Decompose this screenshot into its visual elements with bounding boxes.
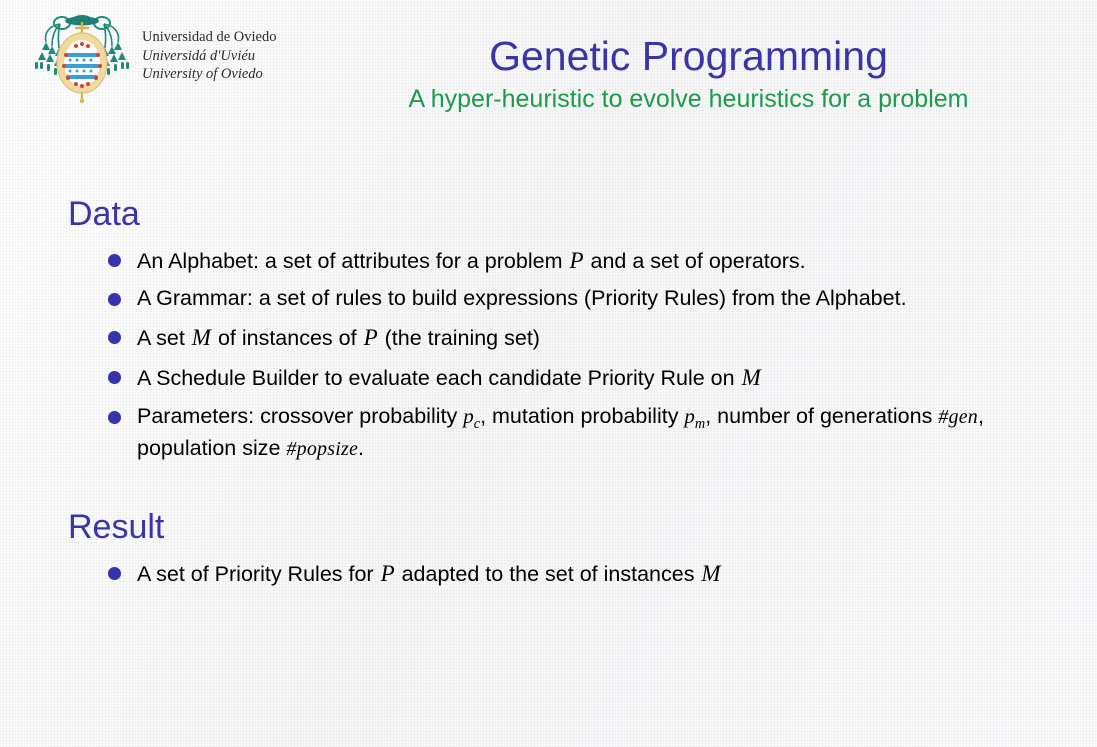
bullet-marker-icon <box>108 567 121 580</box>
bullet-text: A set of Priority Rules for <box>137 562 380 586</box>
slide-header: Universidad de Oviedo Universidá d'Uviéu… <box>0 0 1097 145</box>
bullet-marker-icon <box>108 293 121 306</box>
bullet-marker-icon <box>108 371 121 384</box>
slide-subtitle: A hyper-heuristic to evolve heuristics f… <box>300 86 1077 114</box>
section-heading-result: Result <box>68 510 1097 546</box>
bullet-text: of instances of <box>212 326 363 350</box>
math-script-symbol: M <box>741 365 762 390</box>
bullet-text: , number of generations <box>705 404 938 428</box>
math-variable: pc <box>463 404 480 428</box>
bullet-item: A Grammar: a set of rules to build expre… <box>0 284 1097 314</box>
math-script-symbol: M <box>191 325 212 350</box>
bullet-text: adapted to the set of instances <box>396 562 701 586</box>
bullet-item: A set M of instances of P (the training … <box>0 322 1097 354</box>
bullet-text: . <box>358 436 364 460</box>
bullet-text: , mutation probability <box>480 404 684 428</box>
math-script-symbol: P <box>380 561 396 586</box>
bullet-text: Parameters: crossover probability <box>137 404 463 428</box>
bullet-marker-icon <box>108 254 121 267</box>
university-of-oviedo-crest-icon <box>30 8 134 104</box>
title-block: Genetic Programming A hyper-heuristic to… <box>300 34 1077 114</box>
bullet-text: A Grammar: a set of rules to build expre… <box>137 286 907 310</box>
university-name-block: Universidad de Oviedo Universidá d'Uviéu… <box>142 28 277 84</box>
bullet-item: An Alphabet: a set of attributes for a p… <box>0 245 1097 277</box>
section-heading-data: Data <box>68 197 1097 233</box>
university-name-en: University of Oviedo <box>142 65 277 84</box>
slide-body: Data An Alphabet: a set of attributes fo… <box>0 150 1097 747</box>
bullet-list-result: A set of Priority Rules for P adapted to… <box>0 558 1097 590</box>
math-script-symbol: M <box>700 561 721 586</box>
bullet-item: Parameters: crossover probability pc, mu… <box>0 402 1097 465</box>
math-variable: pm <box>684 404 705 428</box>
slide-canvas: Universidad de Oviedo Universidá d'Uviéu… <box>0 0 1097 747</box>
university-branding: Universidad de Oviedo Universidá d'Uviéu… <box>30 8 277 104</box>
math-parameter: #gen <box>938 406 978 428</box>
math-script-symbol: P <box>568 248 584 273</box>
bullet-text: An Alphabet: a set of attributes for a p… <box>137 249 568 273</box>
section-result: Result A set of Priority Rules for P ada… <box>0 510 1097 597</box>
math-script-symbol: P <box>363 325 379 350</box>
bullet-text: (the training set) <box>379 326 540 350</box>
math-parameter: #popsize <box>286 438 358 460</box>
section-data: Data An Alphabet: a set of attributes fo… <box>0 197 1097 472</box>
bullet-text: A Schedule Builder to evaluate each cand… <box>137 366 741 390</box>
bullet-text: and a set of operators. <box>585 249 806 273</box>
university-name-es: Universidad de Oviedo <box>142 28 277 47</box>
bullet-item: A Schedule Builder to evaluate each cand… <box>0 362 1097 394</box>
bullet-marker-icon <box>108 331 121 344</box>
bullet-marker-icon <box>108 411 121 424</box>
bullet-item: A set of Priority Rules for P adapted to… <box>0 558 1097 590</box>
slide-title: Genetic Programming <box>300 34 1077 78</box>
bullet-list-data: An Alphabet: a set of attributes for a p… <box>0 245 1097 464</box>
university-name-ast: Universidá d'Uviéu <box>142 47 277 66</box>
bullet-text: A set <box>137 326 191 350</box>
